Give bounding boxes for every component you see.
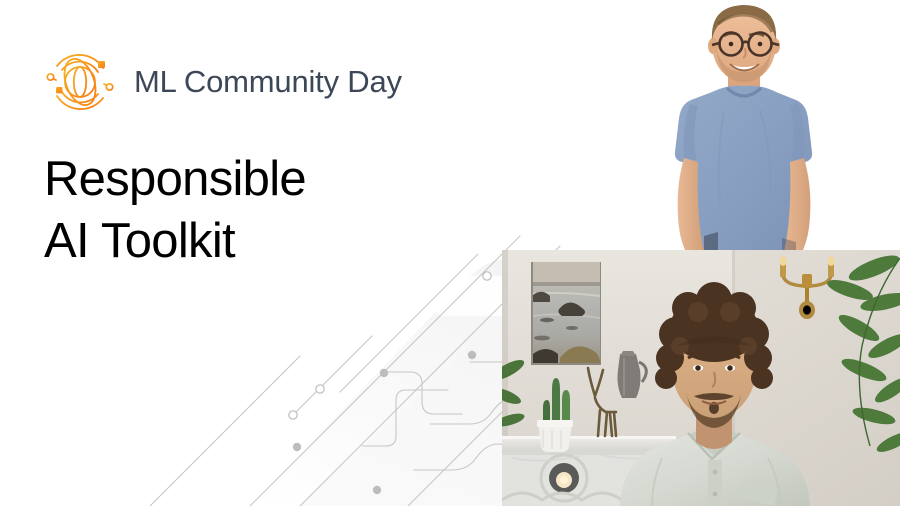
page-title-line-1: Responsible xyxy=(44,148,306,210)
brand-name: ML Community Day xyxy=(134,64,402,100)
brand-lockup: ML Community Day xyxy=(40,42,402,122)
page-title-line-2: AI Toolkit xyxy=(44,210,306,272)
presenter-cutout xyxy=(600,0,900,252)
video-tile-speaker-room[interactable] xyxy=(502,250,900,506)
slide-canvas: ML Community Day Responsible AI Toolkit xyxy=(0,0,900,506)
video-tile-speaker-cutout[interactable] xyxy=(600,0,900,252)
page-title: Responsible AI Toolkit xyxy=(44,148,306,272)
wall-painting xyxy=(531,262,601,365)
presenter-webcam xyxy=(502,250,900,506)
globe-orbit-icon xyxy=(40,42,120,122)
